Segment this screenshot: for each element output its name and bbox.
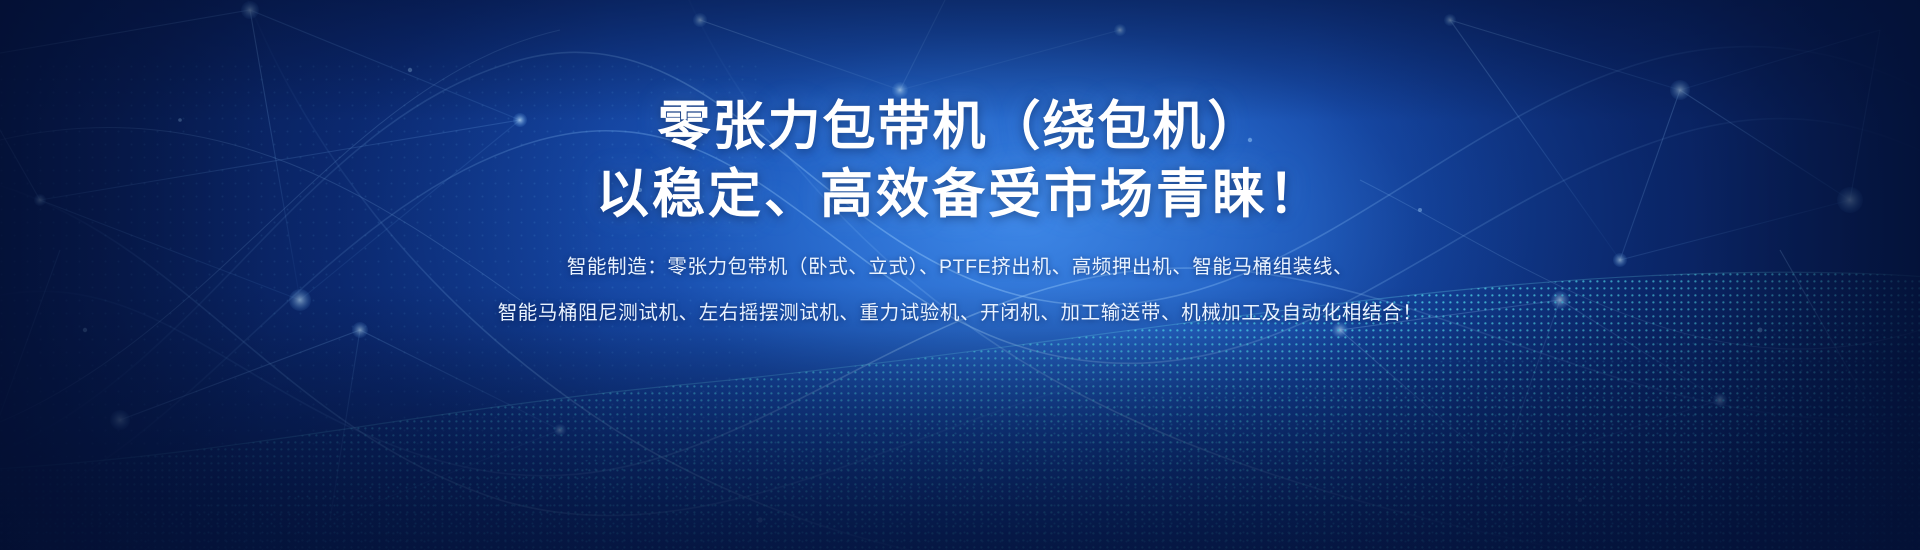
headline-line-1: 零张力包带机（绕包机） — [658, 96, 1263, 158]
hero-banner: 零张力包带机（绕包机） 以稳定、高效备受市场青睐！ 智能制造：零张力包带机（卧式… — [0, 0, 1920, 550]
subtitle-line-2: 智能马桶阻尼测试机、左右摇摆测试机、重力试验机、开闭机、加工输送带、机械加工及自… — [498, 298, 1423, 328]
subtitle-line-1: 智能制造：零张力包带机（卧式、立式）、PTFE挤出机、高频押出机、智能马桶组装线… — [567, 252, 1353, 282]
banner-content: 零张力包带机（绕包机） 以稳定、高效备受市场青睐！ 智能制造：零张力包带机（卧式… — [0, 0, 1920, 550]
headline-line-2: 以稳定、高效备受市场青睐！ — [596, 164, 1324, 226]
